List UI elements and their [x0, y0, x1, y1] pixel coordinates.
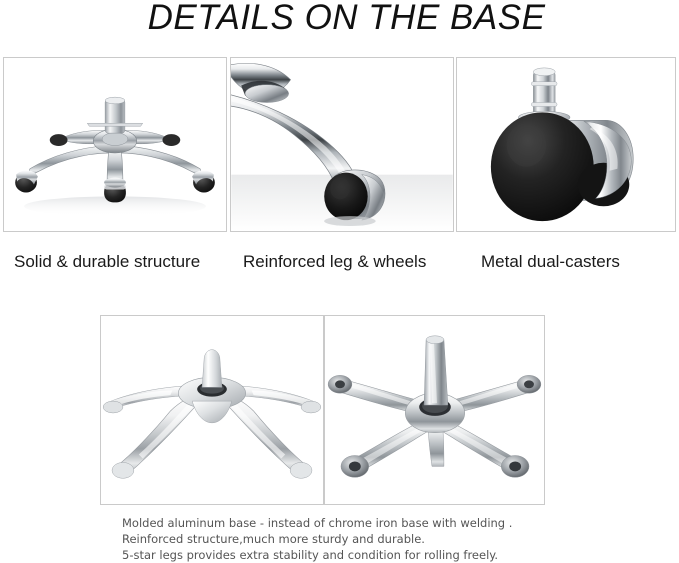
product-detail-page: DETAILS ON THE BASE — [0, 0, 679, 563]
metal-dual-caster-photo — [456, 57, 676, 232]
aluminum-base-front-illustration — [101, 316, 323, 504]
caption-solid-durable-structure: Solid & durable structure — [14, 252, 200, 272]
base-description-block: Molded aluminum base - instead of chrome… — [122, 515, 592, 563]
reinforced-leg-wheel-photo — [230, 57, 454, 232]
chair-base-five-star-photo — [3, 57, 227, 232]
page-title: DETAILS ON THE BASE — [0, 0, 679, 36]
reinforced-leg-wheel-illustration — [231, 58, 453, 231]
description-line-3: 5-star legs provides extra stability and… — [122, 547, 592, 563]
caption-reinforced-leg-wheels: Reinforced leg & wheels — [243, 252, 426, 272]
chair-base-five-star-illustration — [4, 58, 226, 231]
aluminum-base-top-illustration — [325, 316, 544, 504]
aluminum-base-top-photo — [324, 315, 545, 505]
description-line-1: Molded aluminum base - instead of chrome… — [122, 515, 592, 531]
caption-metal-dual-casters: Metal dual-casters — [481, 252, 620, 272]
aluminum-base-front-photo — [100, 315, 324, 505]
description-line-2: Reinforced structure,much more sturdy an… — [122, 531, 592, 547]
metal-dual-caster-illustration — [457, 58, 675, 231]
